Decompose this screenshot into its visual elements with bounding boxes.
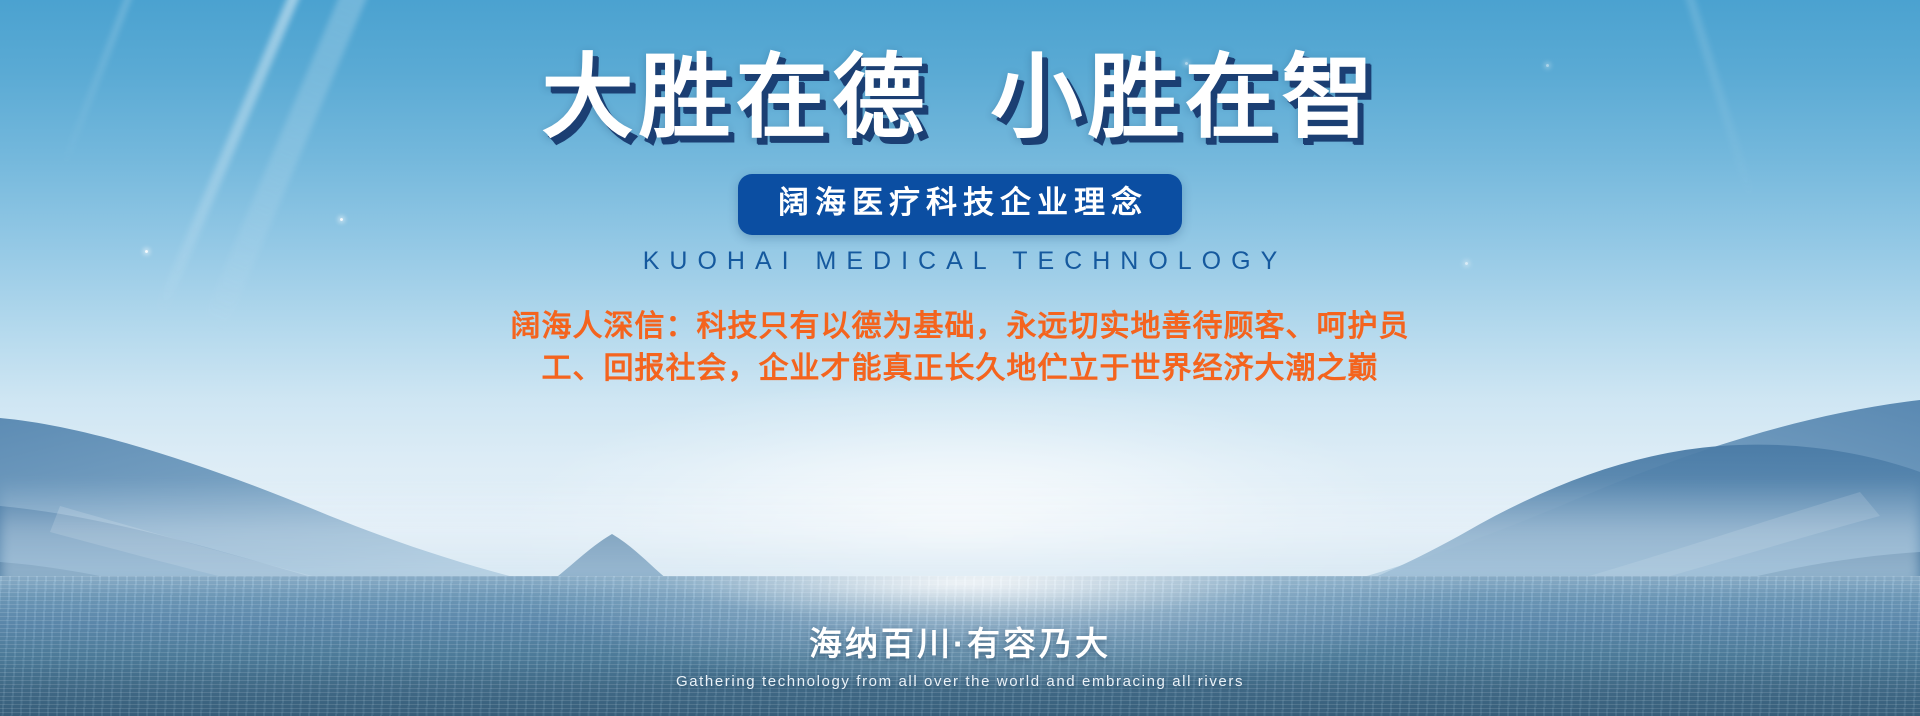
footer-slogan-cn: 海纳百川·有容乃大 — [0, 617, 1920, 665]
kuohai-philosophy-banner: 大胜在德 小胜在智 阔海医疗科技企业理念 KUOHAI MEDICAL TECH… — [0, 0, 1920, 716]
footer-slogan: 海纳百川·有容乃大 Gathering technology from all … — [0, 617, 1920, 690]
philosophy-statement: 阔海人深信：科技只有以德为基础，永远切实地善待顾客、呵护员 工、回报社会，企业才… — [0, 306, 1920, 391]
banner-content: 大胜在德 小胜在智 阔海医疗科技企业理念 KUOHAI MEDICAL TECH… — [0, 0, 1920, 391]
page-title: 大胜在德 小胜在智 — [0, 0, 1920, 152]
english-subtitle: KUOHAI MEDICAL TECHNOLOGY — [0, 247, 1920, 276]
footer-slogan-en: Gathering technology from all over the w… — [0, 673, 1920, 690]
horizon-haze — [0, 478, 1920, 598]
badge-row: 阔海医疗科技企业理念 — [0, 174, 1920, 235]
philosophy-badge: 阔海医疗科技企业理念 — [738, 174, 1182, 235]
statement-line-1: 阔海人深信：科技只有以德为基础，永远切实地善待顾客、呵护员 — [0, 306, 1920, 349]
statement-line-2: 工、回报社会，企业才能真正长久地伫立于世界经济大潮之巅 — [0, 348, 1920, 391]
